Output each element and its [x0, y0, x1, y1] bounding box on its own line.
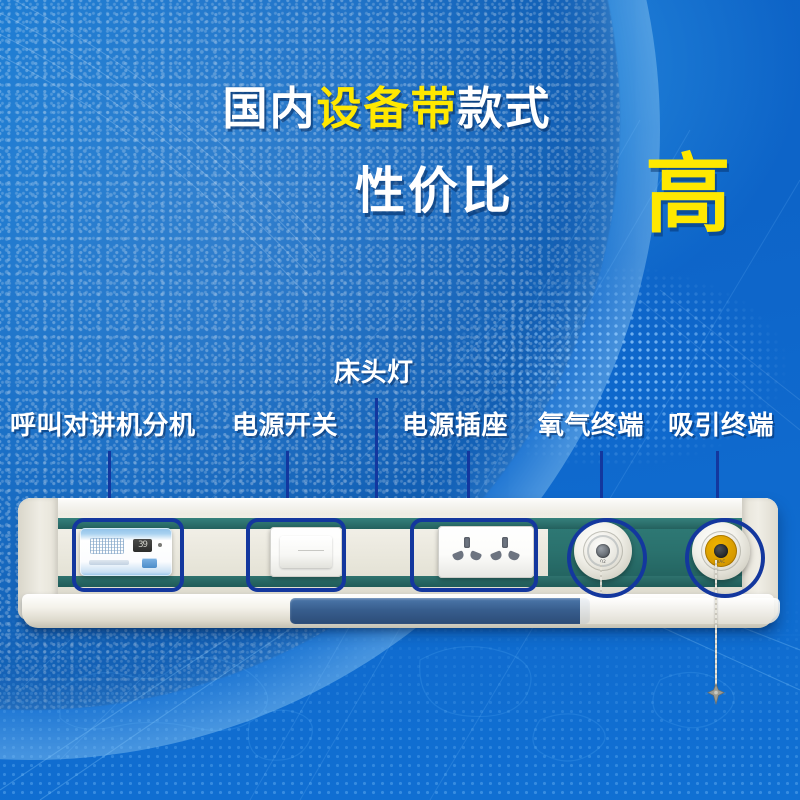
callout-label-power-switch: 电源开关 [232, 413, 338, 439]
highlight-box-power-switch [246, 518, 346, 592]
highlight-circle-oxygen [567, 518, 647, 598]
callout-label-bed-lamp: 床头灯 [334, 360, 414, 386]
highlight-circle-suction [685, 518, 765, 598]
highlight-box-power-outlet [410, 518, 538, 592]
rail-blue-reflection [290, 598, 590, 624]
callout-label-power-outlet: 电源插座 [402, 413, 508, 439]
callout-label-intercom: 呼叫对讲机分机 [10, 413, 196, 439]
halftone-dot-map-upper [380, 250, 800, 510]
highlight-box-intercom [72, 518, 184, 592]
callout-label-oxygen-terminal: 氧气终端 [538, 413, 644, 439]
callout-label-suction-terminal: 吸引终端 [668, 413, 774, 439]
banner-canvas: 国内设备带款式 性价比 高 呼叫对讲机分机 电源开关 床头灯 电源插座 氧气终端… [0, 0, 800, 800]
rail-right-highlight [580, 598, 780, 624]
panel-top-highlight [18, 498, 778, 514]
pull-cord-handle[interactable] [706, 684, 726, 708]
